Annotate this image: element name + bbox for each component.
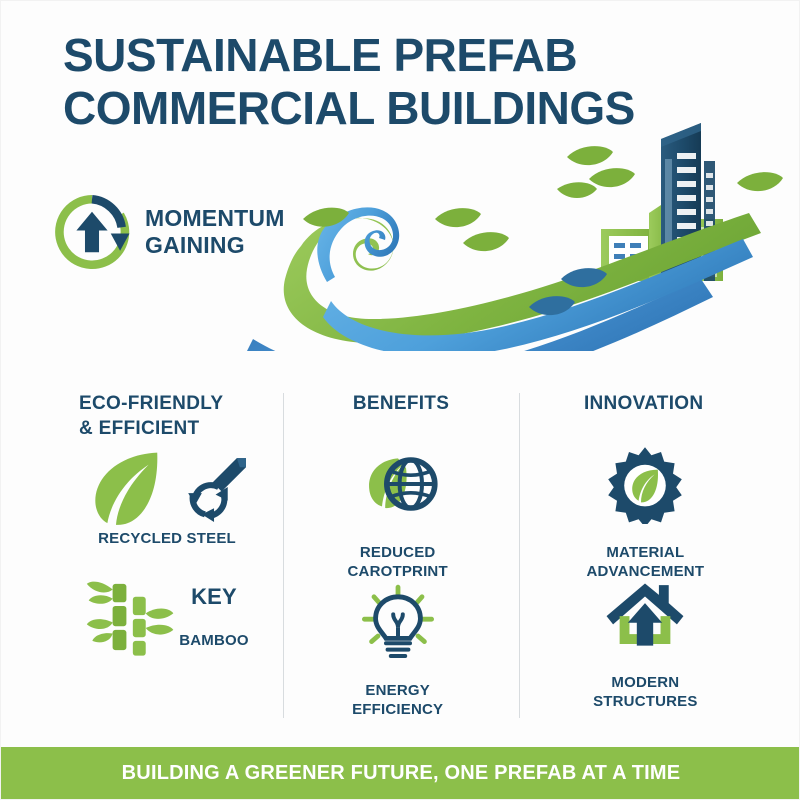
feature-label-energy-efficiency-line-2: EFFICIENCY [352,701,443,720]
feature-emphasis-bamboo: KEY [191,583,237,611]
momentum-badge: MOMENTUM GAINING [53,193,285,271]
feature-label-bamboo: BAMBOO [179,632,249,651]
feature-material-advancement: MATERIAL ADVANCEMENT [522,444,768,582]
circular-arrow-up-icon [53,193,131,271]
bamboo-icon [85,571,177,663]
column-heading-line-1: ECO-FRIENDLY [79,392,223,417]
column-heading-line-2: & EFFICIENT [79,417,223,442]
feature-label-modern-structures-line-1: MODERN [611,674,679,693]
gear-leaf-icon [605,444,685,524]
momentum-label-line-2: GAINING [145,232,285,259]
feature-label-material-advancement-line-1: MATERIAL [606,544,684,563]
column-heading-eco-friendly: ECO-FRIENDLY & EFFICIENT [79,392,223,441]
feature-label-modern-structures-line-2: STRUCTURES [593,693,698,712]
feature-energy-efficiency: ENERGY EFFICIENCY [280,584,516,720]
globe-leaf-icon [358,444,438,524]
column-heading-line-1: INNOVATION [584,392,703,417]
column-benefits: BENEFITS REDUCED CAROTPR [280,386,523,721]
infographic-poster: SUSTAINABLE PREFAB COMMERCIAL BUILDINGS [0,0,800,800]
bamboo-text: KEY BAMBOO [179,583,249,651]
footer-tagline: BUILDING A GREENER FUTURE, ONE PREFAB AT… [122,762,681,785]
column-heading-line-1: BENEFITS [353,392,449,417]
momentum-label: MOMENTUM GAINING [145,205,285,259]
bamboo-row: KEY BAMBOO [85,571,249,663]
feature-columns: ECO-FRIENDLY & EFFICIENT [37,386,765,721]
footer-banner: BUILDING A GREENER FUTURE, ONE PREFAB AT… [1,747,800,799]
recycled-steel-beam-icon [173,449,249,525]
feature-recycled-steel: RECYCLED STEEL [47,444,287,549]
column-innovation: INNOVATION MATERIAL ADVANCEMENT [522,386,765,721]
leaf-icon [85,444,171,530]
lightbulb-icon [358,584,438,664]
house-arrow-up-icon [600,578,690,656]
feature-label-reduced-footprint-line-1: REDUCED [360,544,436,563]
column-eco-friendly: ECO-FRIENDLY & EFFICIENT [37,386,280,721]
column-heading-benefits: BENEFITS [353,392,449,417]
recycled-steel-icons [85,444,249,530]
feature-modern-structures: MODERN STRUCTURES [522,578,768,712]
column-heading-innovation: INNOVATION [584,392,703,417]
title-line-1: SUSTAINABLE PREFAB [63,29,703,82]
momentum-label-line-1: MOMENTUM [145,205,285,232]
feature-label-recycled-steel: RECYCLED STEEL [98,530,236,549]
feature-label-energy-efficiency-line-1: ENERGY [365,682,430,701]
feature-bamboo: KEY BAMBOO [47,571,287,663]
feature-reduced-footprint: REDUCED CAROTPRINT [280,444,516,582]
feature-label-reduced-footprint-line-2: CAROTPRINT [348,563,448,582]
